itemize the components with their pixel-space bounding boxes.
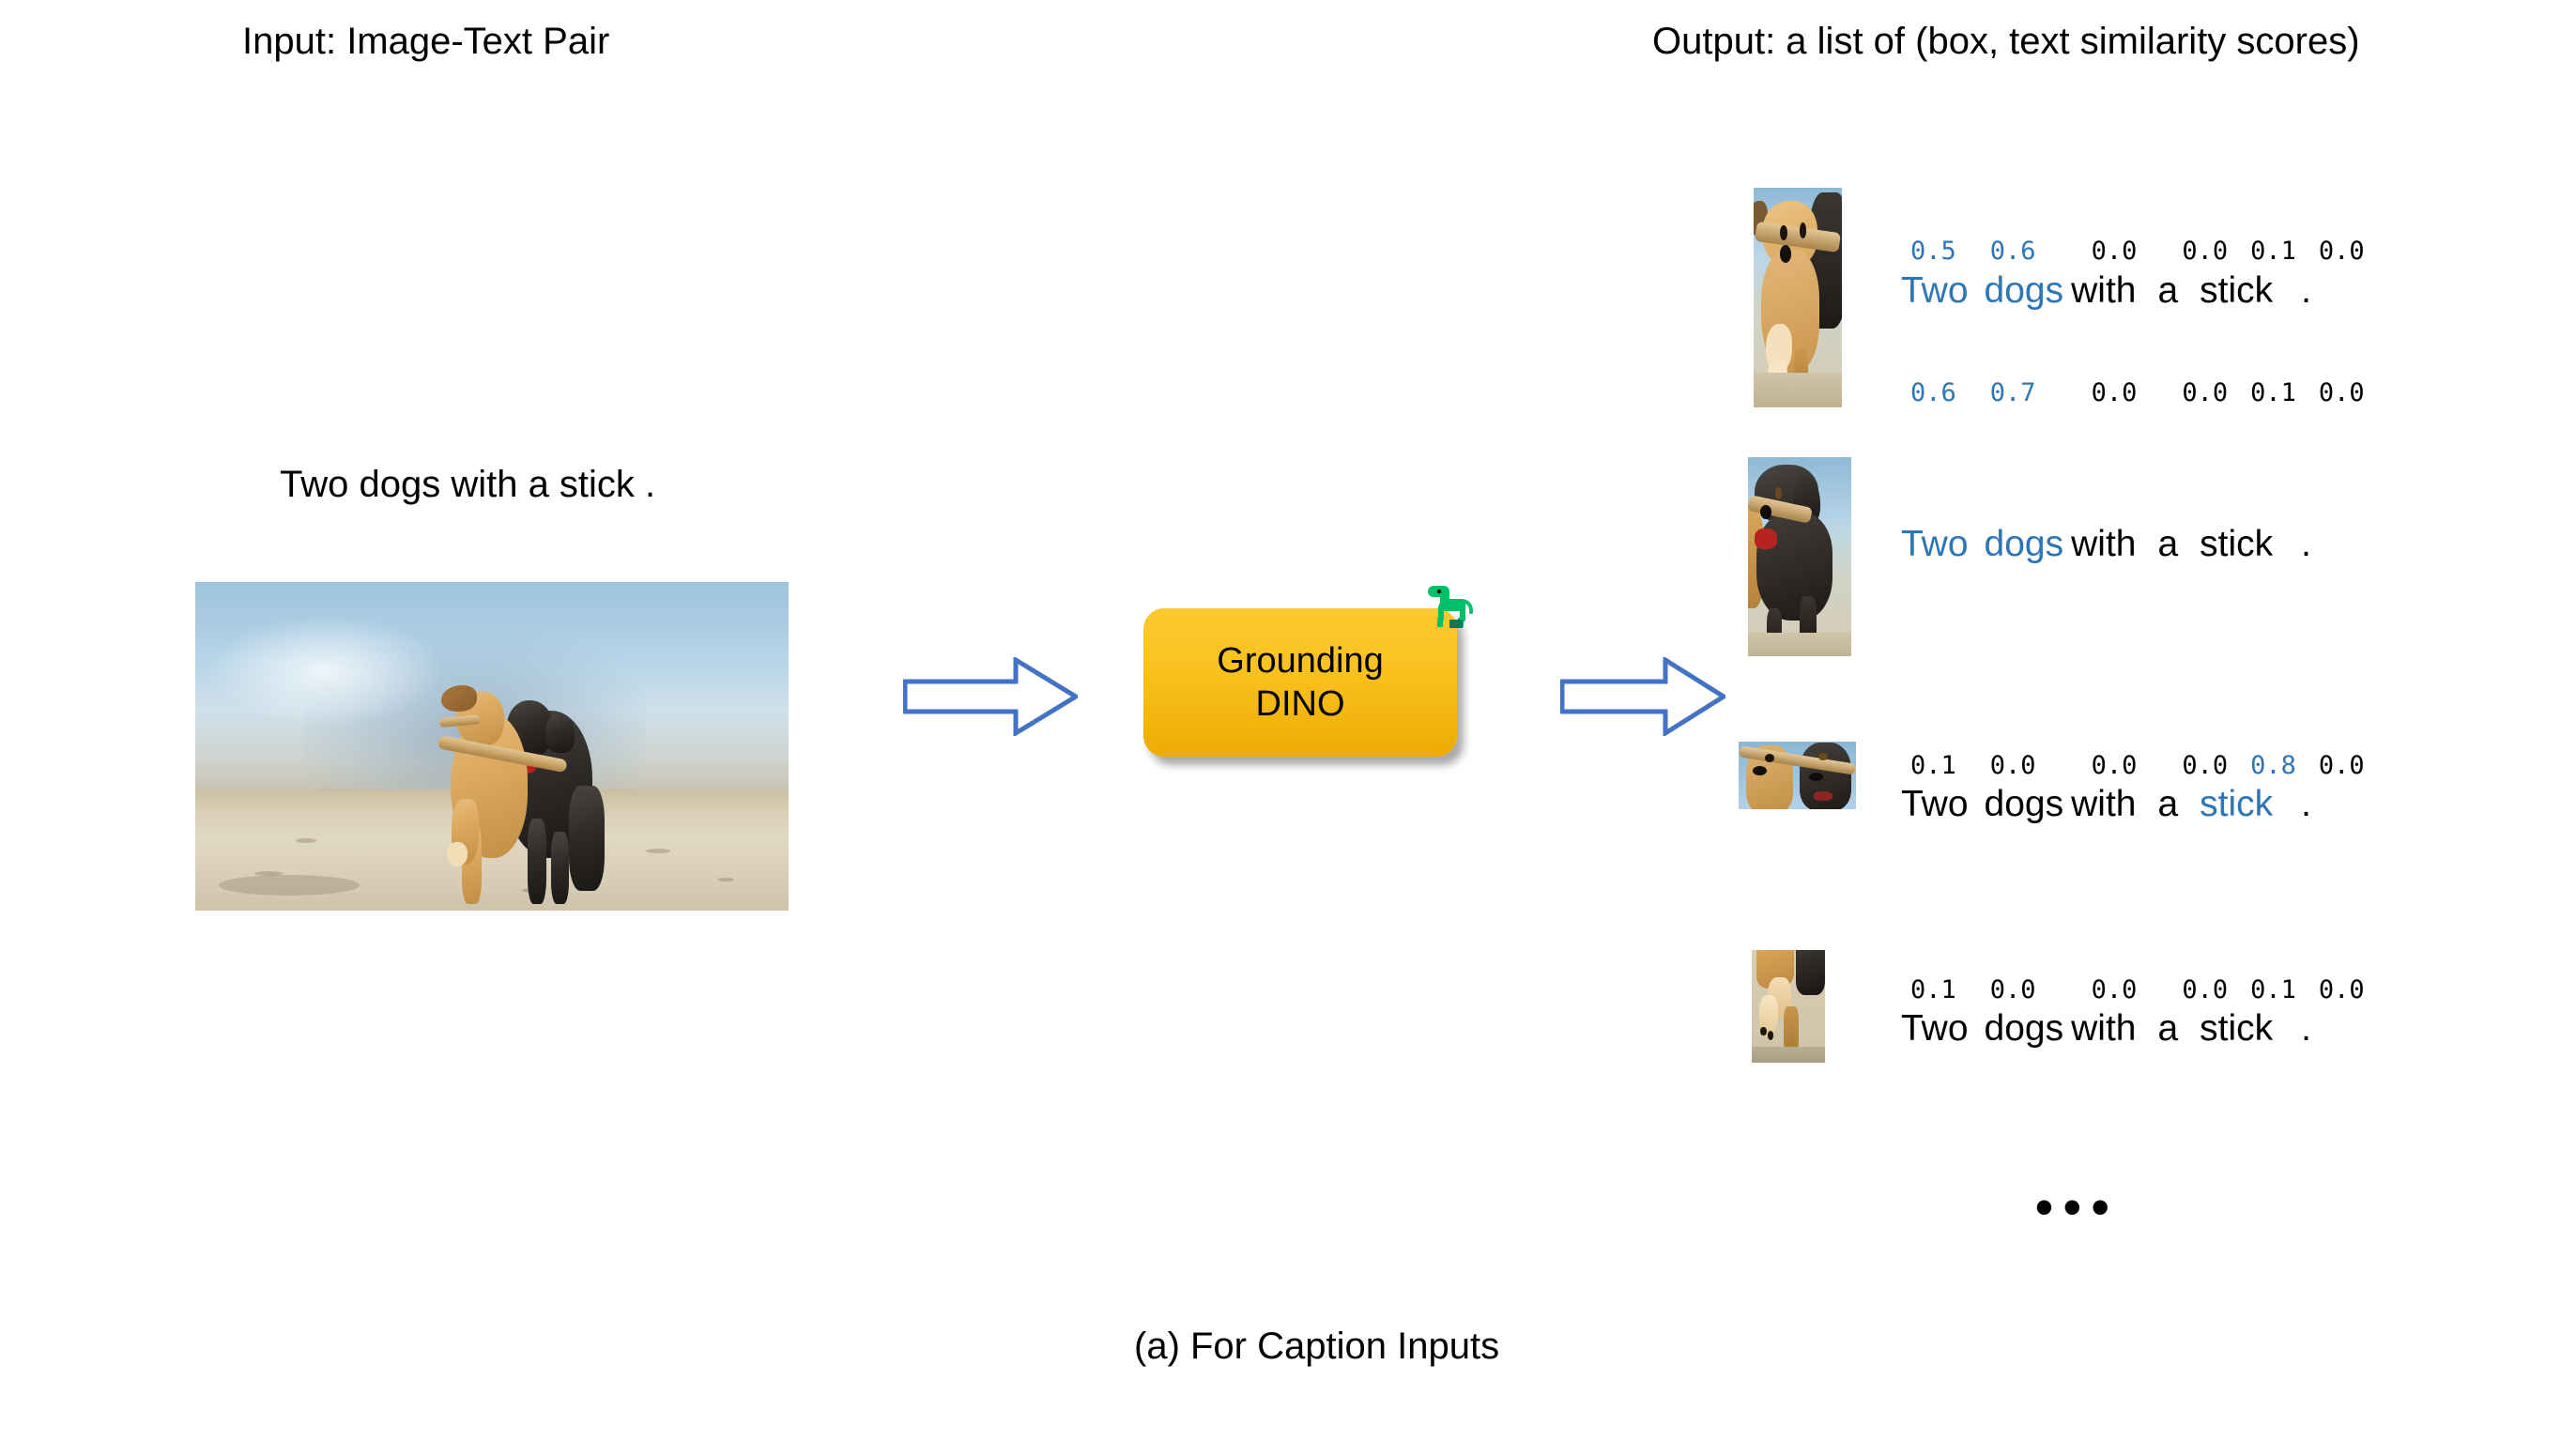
- model-name-line-2: DINO: [1256, 682, 1345, 726]
- output-sentence: Twodogswithastick.: [1901, 784, 2311, 825]
- output-section-title: Output: a list of (box, text similarity …: [1652, 21, 2360, 62]
- model-name-line-1: Grounding: [1217, 639, 1383, 682]
- token: dogs: [1985, 784, 2064, 825]
- token: stick: [2200, 784, 2273, 825]
- score-cell: 0.1: [2250, 975, 2296, 1004]
- black-dog-hind: [569, 786, 605, 891]
- token: with: [2071, 784, 2136, 825]
- sand-speck: [646, 849, 670, 853]
- score-cell: 0.0: [2182, 975, 2228, 1004]
- token: Two: [1901, 784, 1969, 825]
- crop-scene: [1754, 188, 1842, 407]
- token: dogs: [1985, 524, 2064, 565]
- beach-scene: [195, 582, 789, 911]
- score-cell: 0.0: [1990, 975, 2036, 1004]
- token: a: [2157, 270, 2178, 312]
- crop-scene: [1752, 950, 1825, 1063]
- output-sentence: Twodogswithastick.: [1901, 524, 2311, 565]
- score-cell: 0.6: [1910, 378, 1956, 407]
- arrow-right-outline-icon: [1560, 657, 1725, 736]
- input-caption-text: Two dogs with a stick .: [280, 464, 655, 506]
- score-cell: 0.1: [2250, 378, 2296, 407]
- score-cell: 0.0: [2319, 237, 2365, 266]
- token: stick: [2200, 1008, 2273, 1050]
- output-sentence: Twodogswithastick.: [1901, 1008, 2311, 1050]
- token: .: [2301, 1008, 2311, 1050]
- dinosaur-icon: [1420, 578, 1479, 636]
- input-section-title: Input: Image-Text Pair: [242, 21, 609, 62]
- token: Two: [1901, 1008, 1969, 1050]
- arrow-right-outline-icon: [903, 657, 1078, 736]
- score-cell: 0.0: [2092, 378, 2138, 407]
- arrow-input-to-model: [903, 657, 1078, 736]
- token: with: [2071, 1008, 2136, 1050]
- input-image: [195, 582, 789, 911]
- crop-scene: [1739, 742, 1856, 809]
- token: .: [2301, 784, 2311, 825]
- score-cell: 0.5: [1910, 237, 1956, 266]
- token: a: [2157, 1008, 2178, 1050]
- tan-dog-paw: [447, 842, 468, 866]
- score-cell: 0.0: [2092, 237, 2138, 266]
- box-thumbnail-tan-dog: [1754, 188, 1842, 407]
- similarity-scores-row: 0.50.60.00.00.10.0: [1910, 237, 2365, 266]
- score-cell: 0.0: [2182, 378, 2228, 407]
- black-dog-leg: [551, 832, 569, 904]
- score-cell: 0.0: [2182, 751, 2228, 780]
- crop-scene: [1748, 457, 1851, 656]
- score-cell: 0.0: [2319, 378, 2365, 407]
- box-thumbnail-stick: [1739, 742, 1856, 809]
- similarity-scores-row: 0.60.70.00.00.10.0: [1910, 378, 2365, 407]
- score-cell: 0.1: [2250, 237, 2296, 266]
- token: dogs: [1985, 1008, 2064, 1050]
- box-thumbnail-dog-legs: [1752, 950, 1825, 1063]
- score-cell: 0.7: [1990, 378, 2036, 407]
- figure-caption: (a) For Caption Inputs: [1134, 1326, 1499, 1368]
- grounding-dino-model-box[interactable]: Grounding DINO: [1143, 608, 1457, 757]
- score-cell: 0.8: [2250, 751, 2296, 780]
- token: a: [2157, 784, 2178, 825]
- score-cell: 0.0: [2319, 975, 2365, 1004]
- score-cell: 0.0: [2182, 237, 2228, 266]
- token: stick: [2200, 524, 2273, 565]
- sky-cloud: [207, 615, 445, 727]
- arrow-model-to-output: [1560, 657, 1725, 736]
- black-dog-leg: [528, 819, 546, 904]
- score-cell: 0.1: [1910, 751, 1956, 780]
- token: Two: [1901, 270, 1969, 312]
- token: with: [2071, 270, 2136, 312]
- token: Two: [1901, 524, 1969, 565]
- tan-dog-ear: [441, 685, 477, 712]
- token: stick: [2200, 270, 2273, 312]
- similarity-scores-row: 0.10.00.00.00.10.0: [1910, 975, 2365, 1004]
- score-cell: 0.1: [1910, 975, 1956, 1004]
- token: .: [2301, 524, 2311, 565]
- score-cell: 0.0: [2092, 975, 2138, 1004]
- sand-speck: [717, 878, 734, 881]
- token: dogs: [1985, 270, 2064, 312]
- score-cell: 0.0: [1990, 751, 2036, 780]
- token: a: [2157, 524, 2178, 565]
- dinosaur-glyph-icon: [1420, 578, 1479, 636]
- score-cell: 0.0: [2092, 751, 2138, 780]
- sand-shadow: [219, 875, 360, 896]
- token: .: [2301, 270, 2311, 312]
- score-cell: 0.0: [2319, 751, 2365, 780]
- output-sentence: Twodogswithastick.: [1901, 270, 2311, 312]
- token: with: [2071, 524, 2136, 565]
- score-cell: 0.6: [1990, 237, 2036, 266]
- more-results-ellipsis: •••: [2035, 1178, 2120, 1236]
- similarity-scores-row: 0.10.00.00.00.80.0: [1910, 751, 2365, 780]
- box-thumbnail-black-dog: [1748, 457, 1851, 656]
